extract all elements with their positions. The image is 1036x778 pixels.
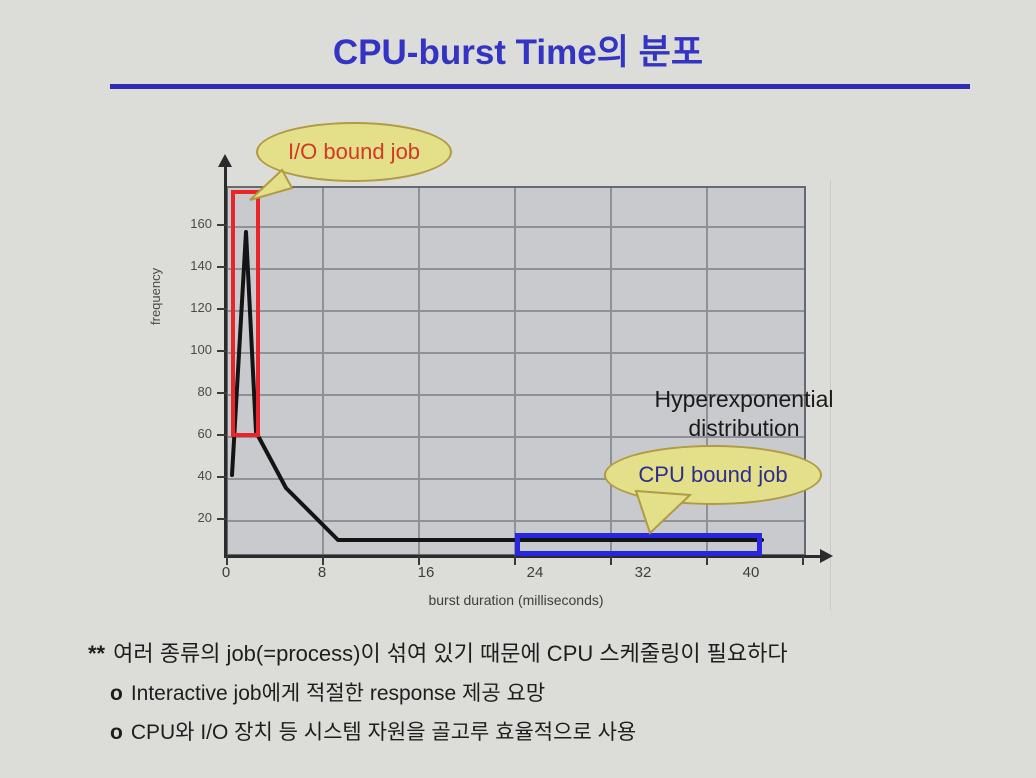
callout-io-tail [248,166,308,206]
y-axis-tick-label: 100 [172,342,212,357]
y-axis-tick [217,434,227,436]
bullet-text: 여러 종류의 job(=process)이 섞여 있기 때문에 CPU 스케줄링… [113,641,788,666]
x-axis-tick-label: 40 [731,564,771,581]
bullet-list: **여러 종류의 job(=process)이 섞여 있기 때문에 CPU 스케… [0,636,1036,755]
x-axis-tick-label: 8 [302,564,342,581]
x-axis-title: burst duration (milliseconds) [226,592,806,608]
y-axis-tick-label: 60 [172,426,212,441]
distribution-annotation-line2: distribution [524,414,964,443]
distribution-annotation-line1: Hyperexponential [524,385,964,414]
y-axis-tick [217,308,227,310]
y-axis-tick-label: 160 [172,216,212,231]
y-axis-tick [217,224,227,226]
y-axis-tick-label: 20 [172,510,212,525]
y-axis-tick [217,266,227,268]
io-bound-highlight-rect [231,190,260,437]
bullet-marker: ** [88,641,105,666]
slide-canvas: CPU-burst Time의 분포 Hyperexponential [0,0,1036,778]
callout-cpu-bound-job: CPU bound job [604,445,822,505]
y-axis-tick [217,518,227,520]
bullet-marker: o [110,721,123,744]
callout-cpu-tail [632,489,702,539]
y-axis-tick-label: 140 [172,258,212,273]
distribution-annotation: Hyperexponential distribution [524,385,964,443]
bullet-text: CPU와 I/O 장치 등 시스템 자원을 골고루 효율적으로 사용 [131,721,636,744]
bullet-marker: o [110,682,123,705]
y-axis-tick-label: 80 [172,384,212,399]
x-axis-tick-label: 32 [623,564,663,581]
bullet-item-2: oInteractive job에게 적절한 response 제공 요망 [0,677,1036,707]
chart-figure: Hyperexponential distribution 160 140 12… [0,140,1036,630]
y-axis-tick-label: 40 [172,468,212,483]
callout-io-bound-job: I/O bound job [256,122,452,182]
x-axis-tick [802,556,804,565]
x-axis-tick-label: 16 [406,564,446,581]
y-axis-arrow-icon [218,154,232,167]
page-title: CPU-burst Time의 분포 [0,24,1036,75]
bullet-text: Interactive job에게 적절한 response 제공 요망 [131,682,545,705]
y-axis-title: frequency [148,268,163,325]
x-axis-arrow-icon [820,549,833,563]
bullet-item-1: **여러 종류의 job(=process)이 섞여 있기 때문에 CPU 스케… [0,636,1036,668]
y-axis-tick-label: 120 [172,300,212,315]
y-axis-tick [217,350,227,352]
y-axis-tick [217,476,227,478]
callout-cpu-label: CPU bound job [638,462,787,488]
x-axis-tick-label: 0 [206,564,246,581]
title-underline-rule [110,84,970,89]
x-axis-tick-label: 24 [515,564,555,581]
x-axis-tick [706,556,708,565]
bullet-item-3: oCPU와 I/O 장치 등 시스템 자원을 골고루 효율적으로 사용 [0,716,1036,746]
x-axis-tick [610,556,612,565]
y-axis-tick [217,392,227,394]
callout-io-label: I/O bound job [288,139,420,165]
